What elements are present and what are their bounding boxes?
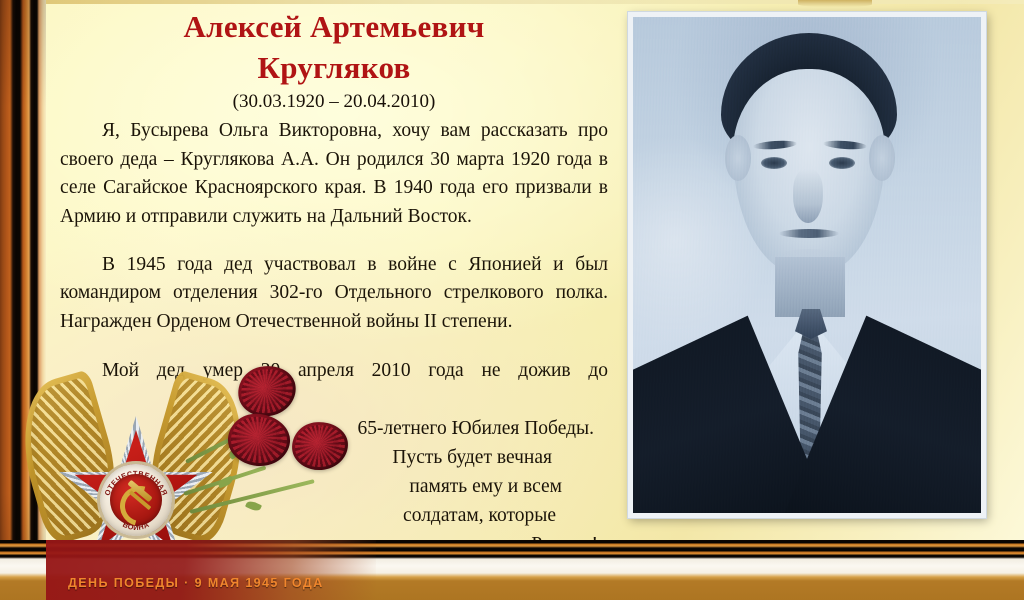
medal-center-disc: ОТЕЧЕСТВЕННАЯ ВОЙНА <box>100 464 172 536</box>
carnation-bouquet <box>176 352 396 567</box>
carnation-leaf-2 <box>217 476 234 489</box>
life-dates: (30.03.1920 – 20.04.2010) <box>60 89 608 115</box>
portrait-photo-frame <box>628 12 986 518</box>
page-title-line-2: Кругляков <box>60 47 608 88</box>
carnation-leaf-3 <box>245 499 262 513</box>
carnation-flower-3 <box>290 420 349 472</box>
biography-paragraph-2: В 1945 года дед участвовал в войне с Япо… <box>60 251 608 337</box>
portrait-film-grain <box>633 17 981 513</box>
portrait-photo <box>633 17 981 513</box>
biography-paragraph-1: Я, Бусырева Ольга Викторовна, хочу вам р… <box>60 117 608 231</box>
victory-day-caption: ДЕНЬ ПОБЕДЫ · 9 МАЯ 1945 ГОДА <box>68 576 324 590</box>
carnation-flower-1 <box>233 361 300 422</box>
carnation-flower-2 <box>225 411 292 469</box>
page-title-line-1: Алексей Артемьевич <box>60 6 608 47</box>
medal-inner-red-circle <box>110 474 162 526</box>
bottom-caption-background <box>46 540 376 600</box>
memorial-poster: Алексей Артемьевич Кругляков (30.03.1920… <box>0 0 1024 600</box>
top-decorative-sliver-icon <box>798 0 872 7</box>
top-edge-line <box>46 0 1024 4</box>
